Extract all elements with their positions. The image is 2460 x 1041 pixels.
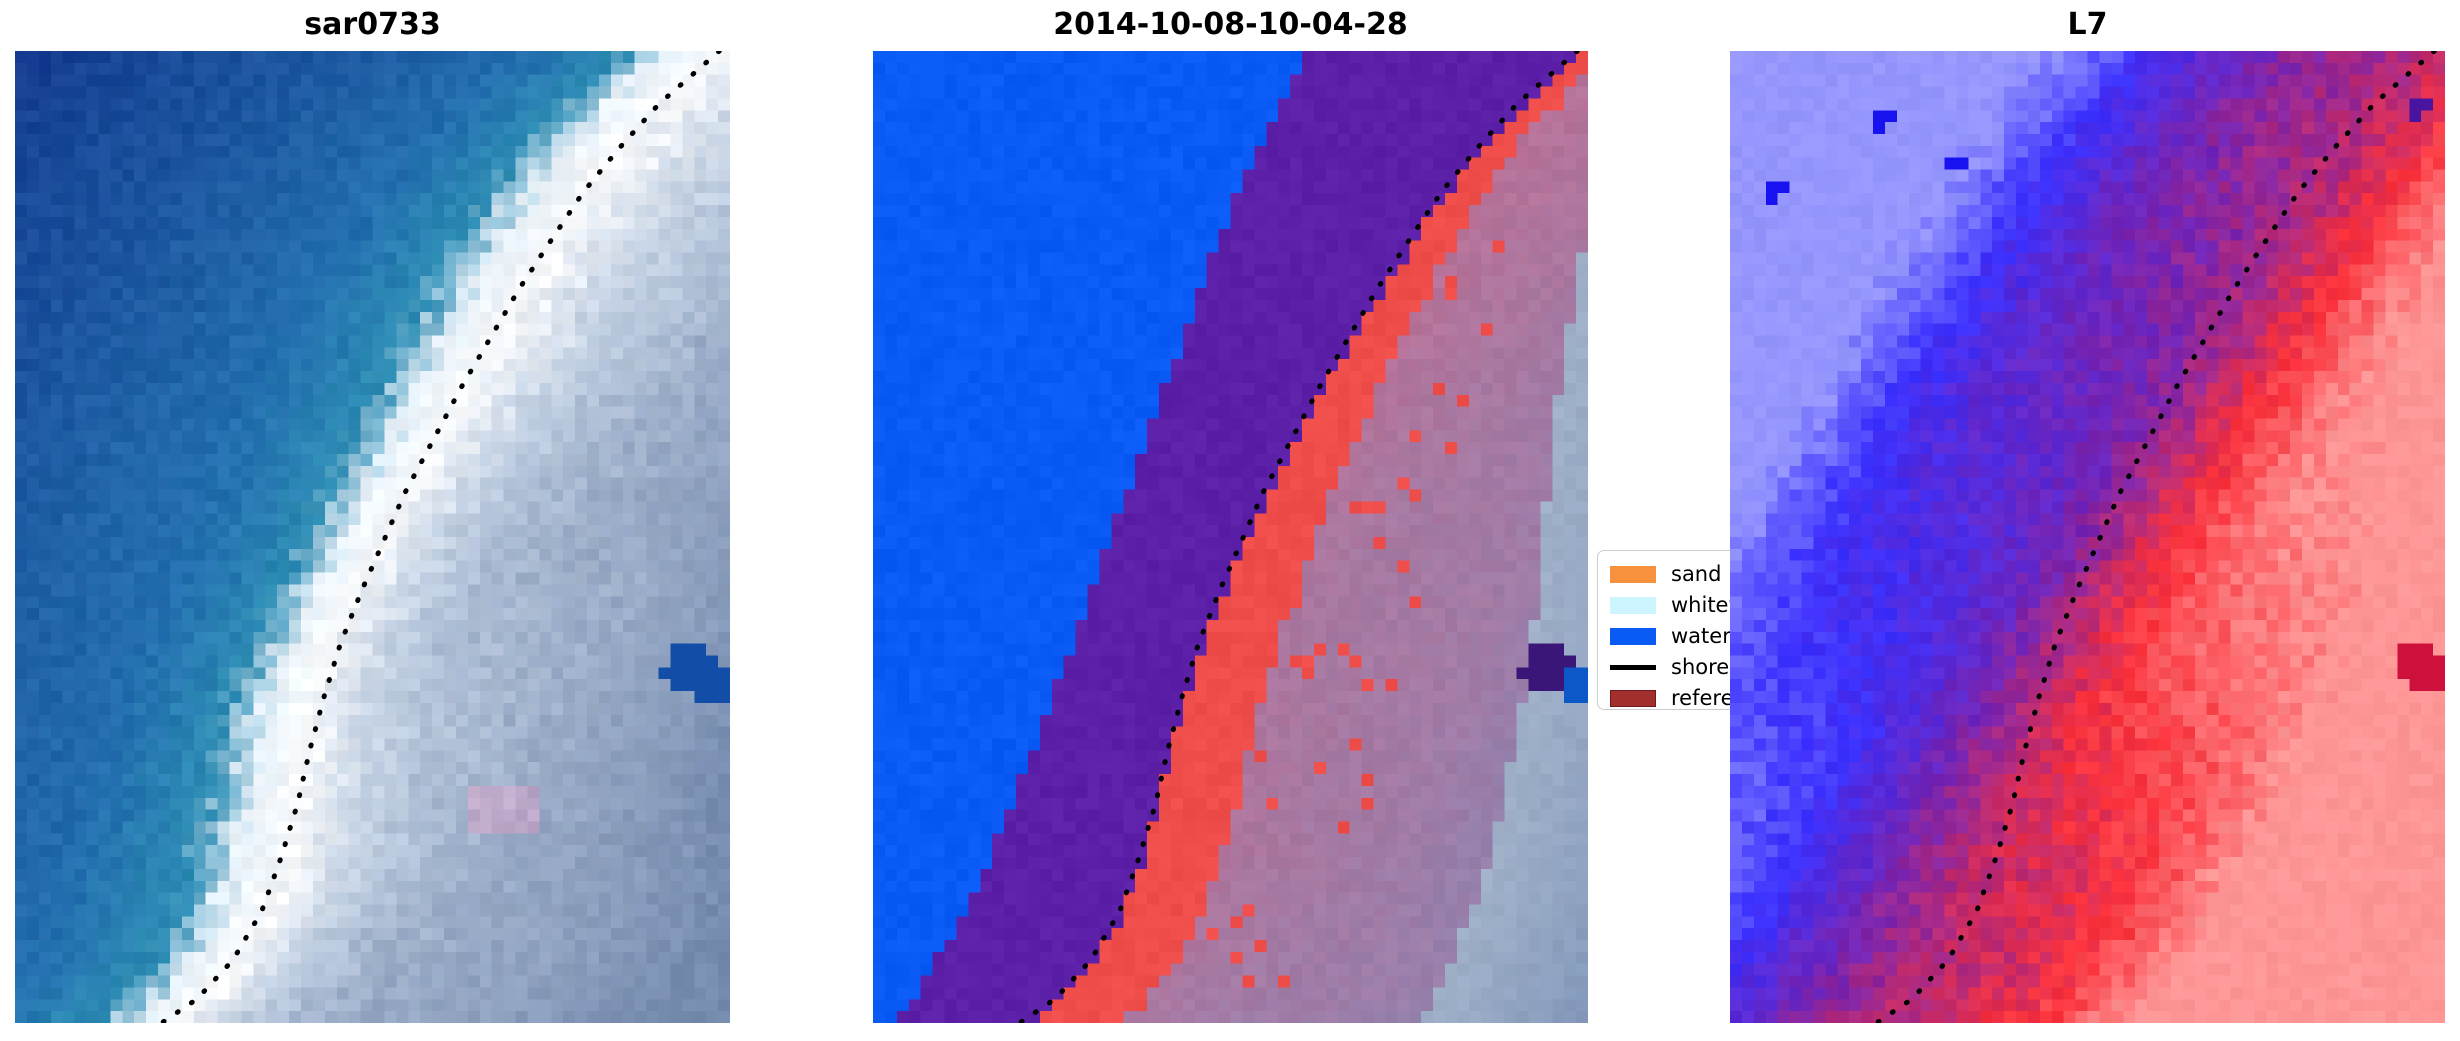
panel-title-sar: sar0733 — [15, 8, 730, 42]
figure-canvas: sar0733 2014-10-08-10-04-28 L7 sandwhite… — [0, 0, 2460, 1041]
panel-title-classification: 2014-10-08-10-04-28 — [873, 8, 1588, 42]
classification-panel[interactable] — [873, 51, 1588, 1023]
legend-label: reference shoreline — [1671, 686, 1807, 710]
legend-row-shoreline[interactable]: shoreline — [1610, 654, 1794, 680]
classification-raster — [873, 51, 1588, 1023]
legend-row-whitewater[interactable]: whitewater — [1610, 592, 1794, 618]
map-legend[interactable]: sandwhitewaterwatershorelinereference sh… — [1597, 550, 1807, 710]
index-raster — [1730, 51, 2445, 1023]
legend-label: sand — [1671, 562, 1721, 586]
legend-label: water — [1671, 624, 1731, 648]
legend-row-water[interactable]: water — [1610, 623, 1794, 649]
legend-row-sand[interactable]: sand — [1610, 561, 1794, 587]
legend-swatch-reference-icon — [1610, 690, 1656, 707]
panel-title-index: L7 — [1730, 8, 2445, 42]
sar-rgb-raster — [15, 51, 730, 1023]
legend-swatch-sand-icon — [1610, 566, 1656, 583]
sar-rgb-panel[interactable] — [15, 51, 730, 1023]
legend-swatch-water-icon — [1610, 628, 1656, 645]
legend-swatch-whitewater-icon — [1610, 597, 1656, 614]
index-panel[interactable] — [1730, 51, 2445, 1023]
legend-label: whitewater — [1671, 593, 1788, 617]
legend-label: shoreline — [1671, 655, 1767, 679]
legend-row-reference[interactable]: reference shoreline — [1610, 685, 1794, 710]
legend-swatch-shoreline-icon — [1610, 665, 1656, 670]
